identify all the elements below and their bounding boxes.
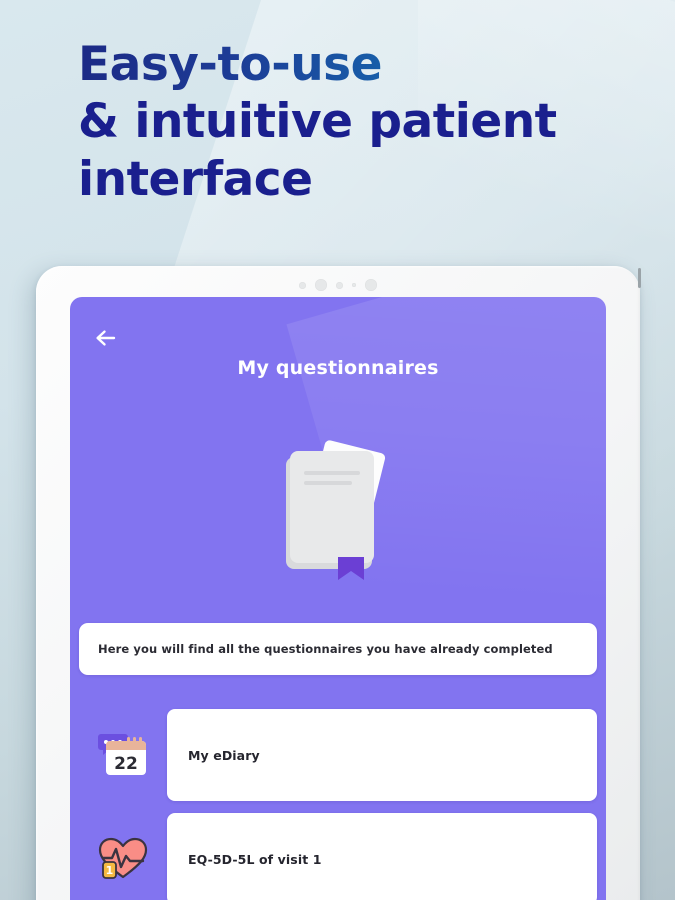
tablet-side-button[interactable] — [638, 268, 641, 288]
questionnaire-label: My eDiary — [167, 748, 260, 763]
headline-line-2: & intuitive patient — [78, 93, 638, 150]
questionnaire-card[interactable]: EQ-5D-5L of visit 1 — [167, 813, 597, 900]
arrow-left-icon — [94, 328, 116, 348]
questionnaire-badge-count: 1 — [106, 864, 114, 877]
page-title: My questionnaires — [70, 357, 606, 379]
tablet-sensor-cluster — [299, 279, 377, 291]
heart-pulse-icon: 1 — [95, 831, 151, 887]
calendar-chat-icon-svg: 22 — [95, 727, 151, 783]
sensor-dot-tiny-icon — [352, 283, 356, 287]
calendar-chat-icon: 22 — [95, 727, 151, 783]
sensor-dot-small-icon — [336, 282, 343, 289]
info-banner: Here you will find all the questionnaire… — [79, 623, 597, 675]
questionnaire-label: EQ-5D-5L of visit 1 — [167, 852, 322, 867]
sensor-dot-small-icon — [299, 282, 306, 289]
sensor-dot-large-icon — [315, 279, 327, 291]
app-store-promo-screenshot: Easy-to-use & intuitive patient interfac… — [0, 0, 675, 900]
headline-line-3: interface — [78, 151, 638, 208]
calendar-day-number: 22 — [114, 754, 138, 774]
questionnaire-list: 22 My eDiary — [79, 709, 597, 900]
tablet-device: My questionnaires — [36, 266, 640, 900]
promo-headline: Easy-to-use & intuitive patient interfac… — [78, 36, 638, 208]
questionnaire-row-eq5d5l[interactable]: 1 EQ-5D-5L of visit 1 — [79, 813, 597, 900]
questionnaire-card[interactable]: My eDiary — [167, 709, 597, 801]
documents-stack-icon — [272, 439, 404, 589]
questionnaire-icon-cell: 1 — [79, 813, 167, 900]
documents-stack-illustration — [272, 439, 404, 589]
sensor-dot-large-icon — [365, 279, 377, 291]
back-button[interactable] — [88, 321, 122, 355]
heart-pulse-icon-svg: 1 — [95, 831, 151, 887]
questionnaire-icon-cell: 22 — [79, 709, 167, 801]
questionnaire-row-ediary[interactable]: 22 My eDiary — [79, 709, 597, 801]
headline-line-1: Easy-to-use — [78, 36, 638, 93]
info-banner-text: Here you will find all the questionnaire… — [79, 642, 553, 656]
tablet-screen: My questionnaires — [70, 297, 606, 900]
